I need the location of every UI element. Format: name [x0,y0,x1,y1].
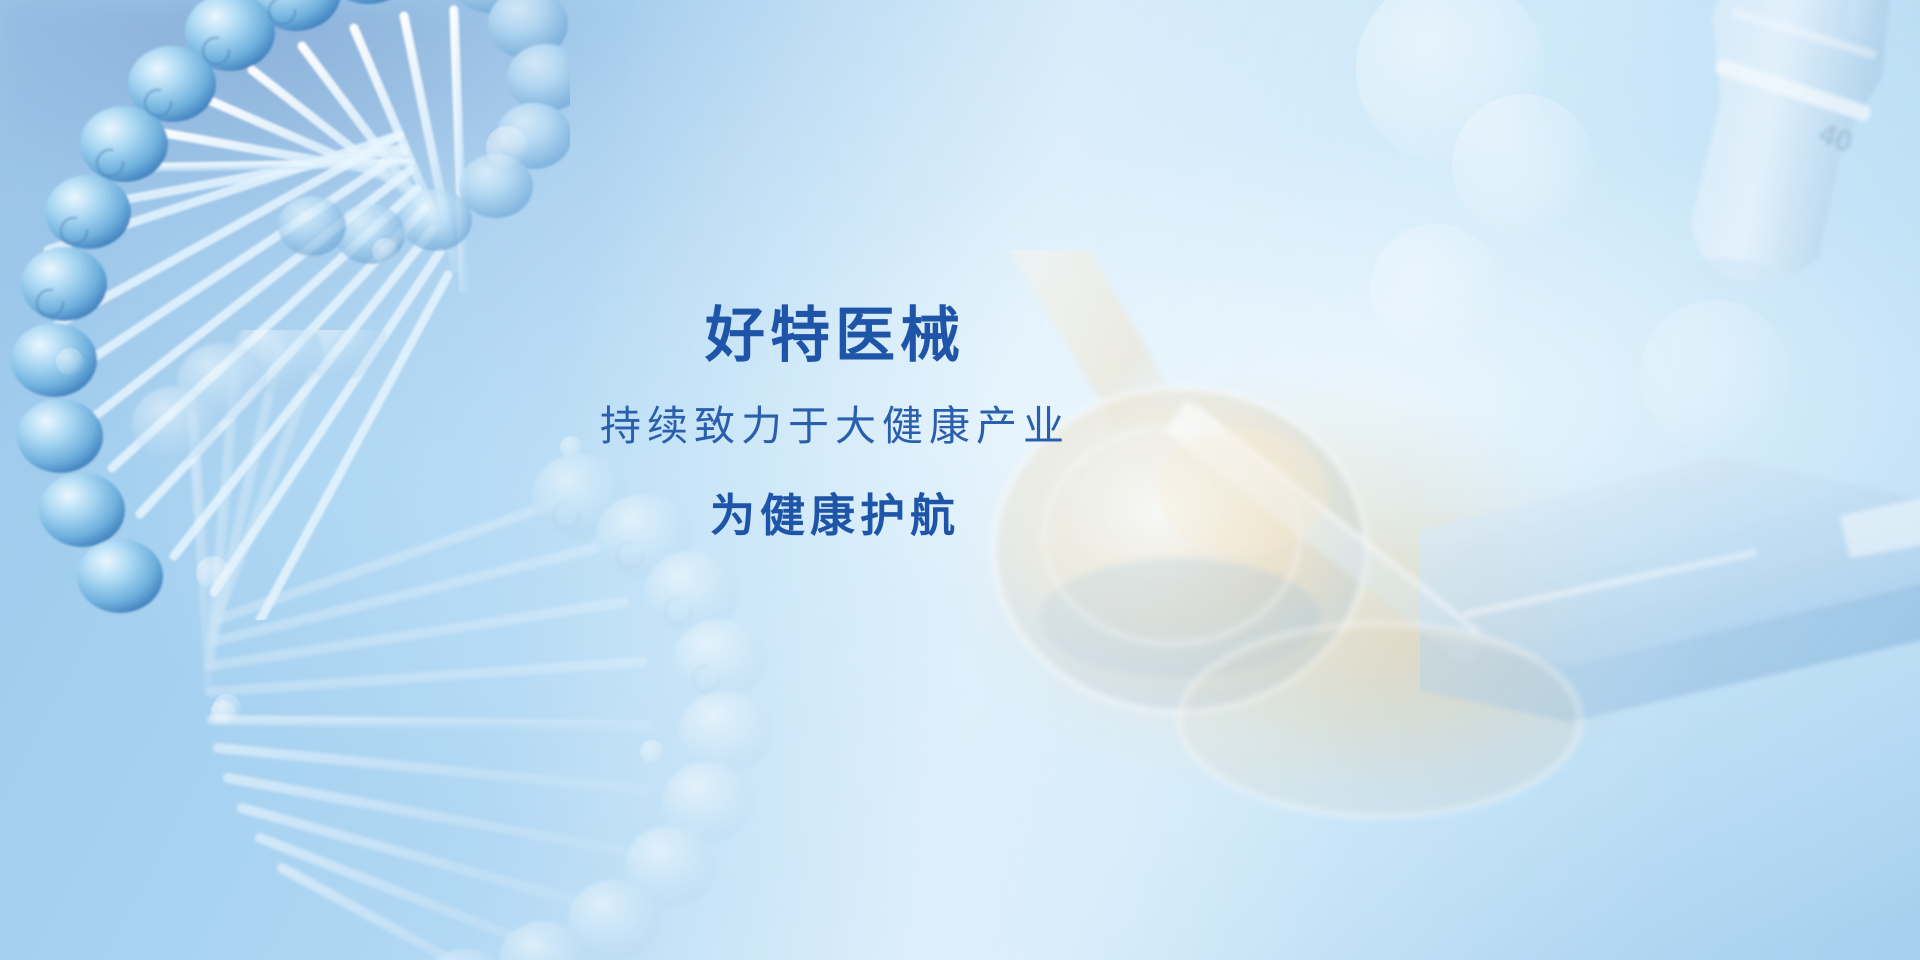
banner-subtitle: 持续致力于大健康产业 [600,406,1070,447]
hero-banner: 40 [0,0,1920,960]
page-title: 好特医械 [600,306,1070,366]
banner-tagline: 为健康护航 [600,493,1070,538]
banner-copy: 好特医械 持续致力于大健康产业 为健康护航 [0,0,1920,960]
